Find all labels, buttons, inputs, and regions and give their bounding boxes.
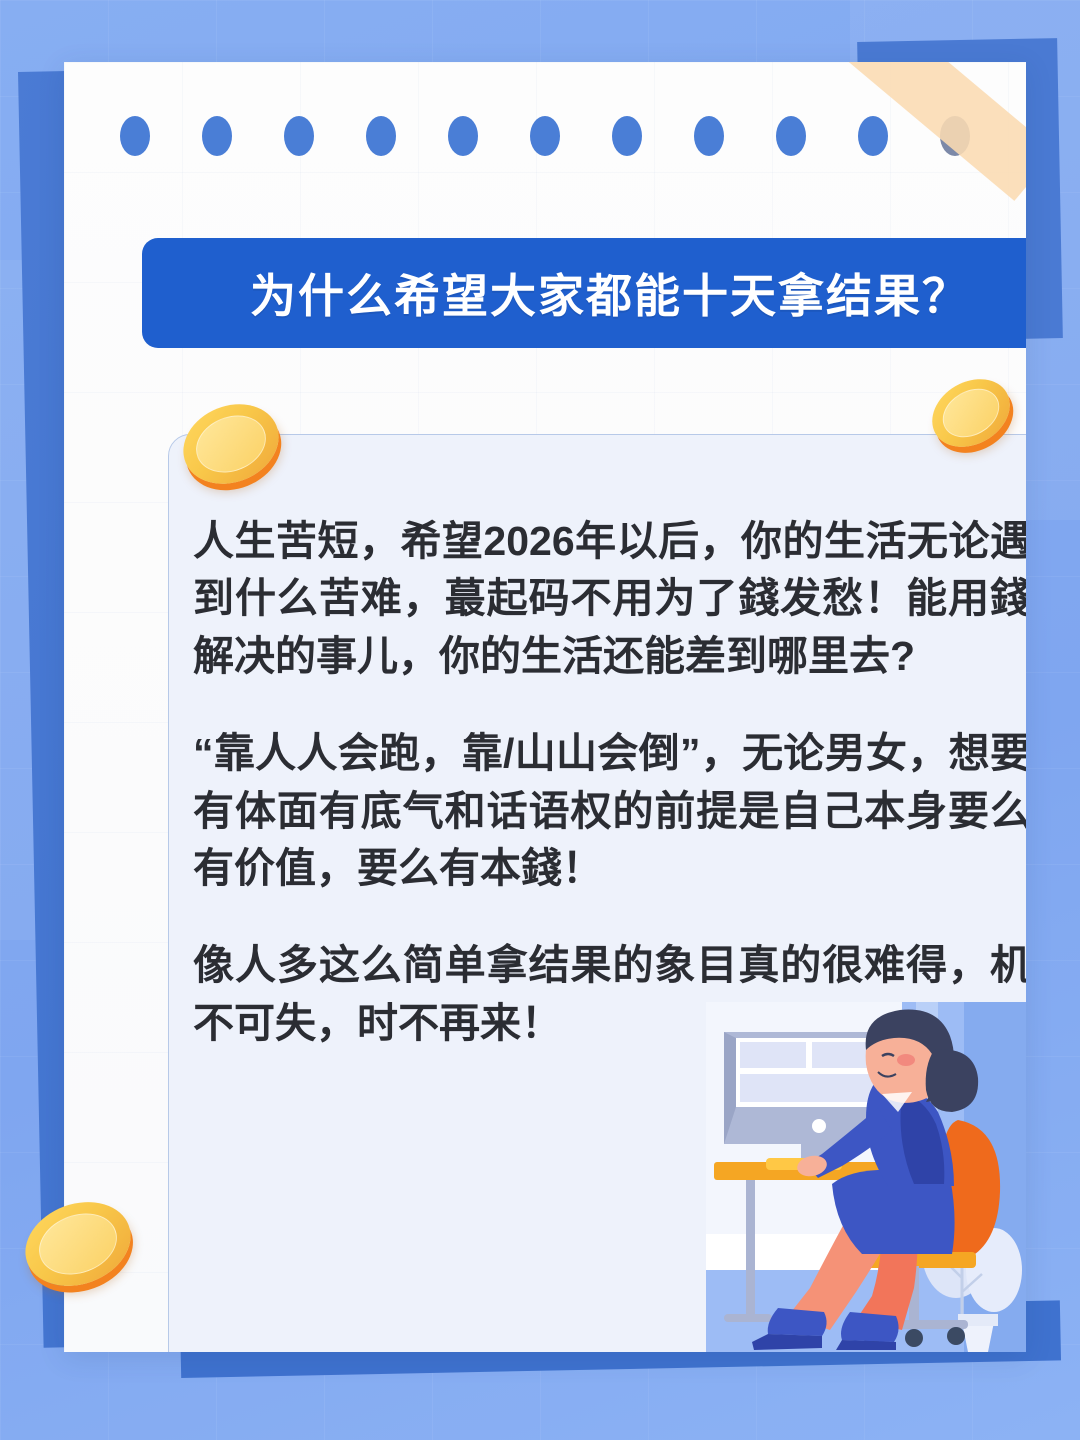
binder-hole-icon	[366, 116, 396, 156]
binder-hole-icon	[530, 116, 560, 156]
binder-hole-icon	[284, 116, 314, 156]
binder-hole-icon	[612, 116, 642, 156]
content-body: 人生苦短，希望2026年以后，你的生活无论遇到什么苦难，蕞起码不用为了錢发愁！能…	[193, 513, 1026, 1052]
woman-at-desk-illustration	[706, 1002, 1026, 1352]
paragraph-2: “靠人人会跑，靠/山山会倒”，无论男女，想要有体面有底气和话语权的前提是自己本身…	[193, 725, 1026, 897]
coin-face	[187, 405, 275, 483]
paper-sheet: 为什么希望大家都能十天拿结果？ 人生苦短，希望2026年以后，你的生活无论遇到什…	[64, 62, 1026, 1352]
binder-hole-icon	[448, 116, 478, 156]
binder-hole-icon	[694, 116, 724, 156]
binder-hole-icon	[120, 116, 150, 156]
binder-hole-icon	[858, 116, 888, 156]
binder-hole-row	[64, 116, 1026, 156]
binder-hole-icon	[202, 116, 232, 156]
page-title: 为什么希望大家都能十天拿结果？	[250, 260, 970, 326]
binder-hole-icon	[776, 116, 806, 156]
paragraph-1: 人生苦短，希望2026年以后，你的生活无论遇到什么苦难，蕞起码不用为了錢发愁！能…	[193, 513, 1026, 685]
coin-face	[31, 1203, 126, 1284]
title-banner: 为什么希望大家都能十天拿结果？	[142, 238, 1026, 348]
